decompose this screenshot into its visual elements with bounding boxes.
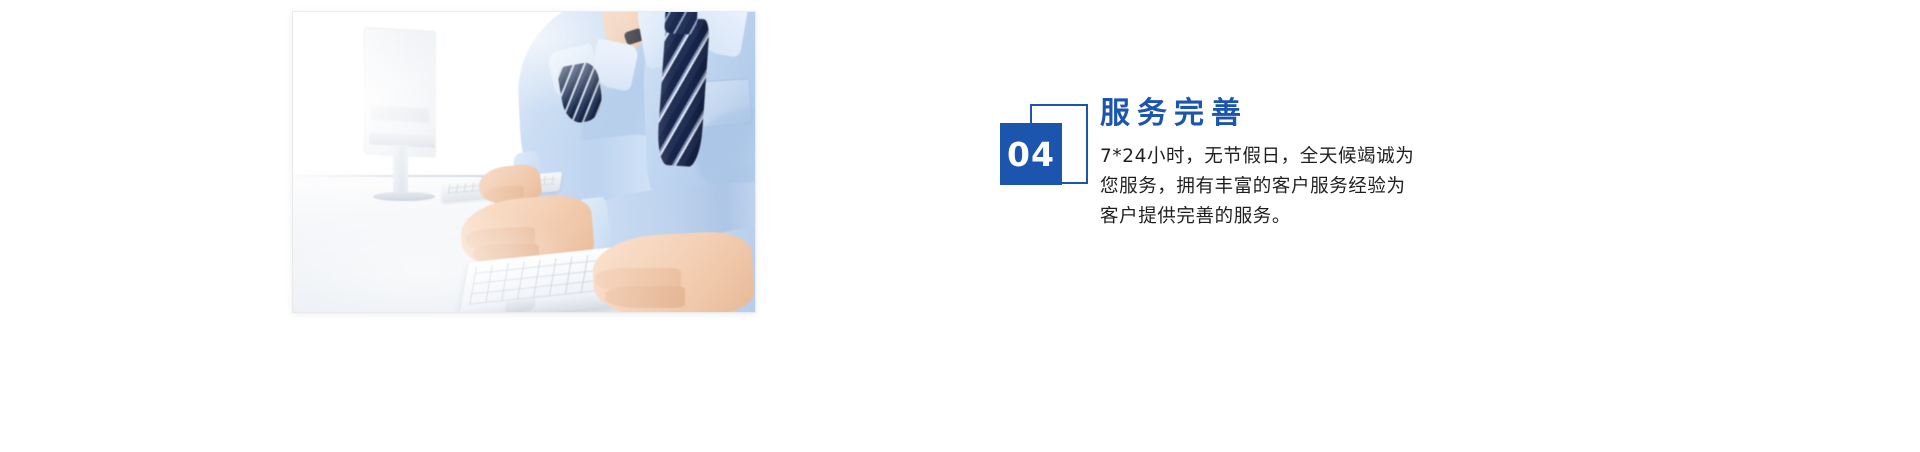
photo-scene [293, 12, 755, 312]
monitor-stand [393, 145, 408, 197]
description-line-3: 客户提供完善的服务。 [1100, 202, 1530, 232]
page-root: 04 服务完善 7*24小时，无节假日，全天候竭诚为 您服务，拥有丰富的客户服务… [0, 0, 1920, 452]
feature-photo [293, 12, 755, 312]
feature-title: 服务完善 [1100, 96, 1530, 131]
description-line-2: 您服务，拥有丰富的客户服务经验为 [1100, 172, 1530, 202]
front-person-typing-finger-lower [605, 286, 685, 308]
description-line-1: 7*24小时，无节假日，全天候竭诚为 [1100, 142, 1530, 172]
monitor-glare [371, 105, 429, 122]
badge-number-text: 04 [1007, 138, 1055, 171]
step-number-badge: 04 [1000, 104, 1092, 196]
badge-filled-square: 04 [1000, 123, 1062, 185]
feature-description: 7*24小时，无节假日，全天候竭诚为 您服务，拥有丰富的客户服务经验为 客户提供… [1100, 142, 1530, 232]
front-keyboard-foot [504, 298, 536, 312]
front-person-necktie-knot [664, 12, 697, 35]
monitor-base [373, 192, 435, 201]
feature-text-column: 服务完善 7*24小时，无节假日，全天候竭诚为 您服务，拥有丰富的客户服务经验为… [1100, 96, 1530, 232]
